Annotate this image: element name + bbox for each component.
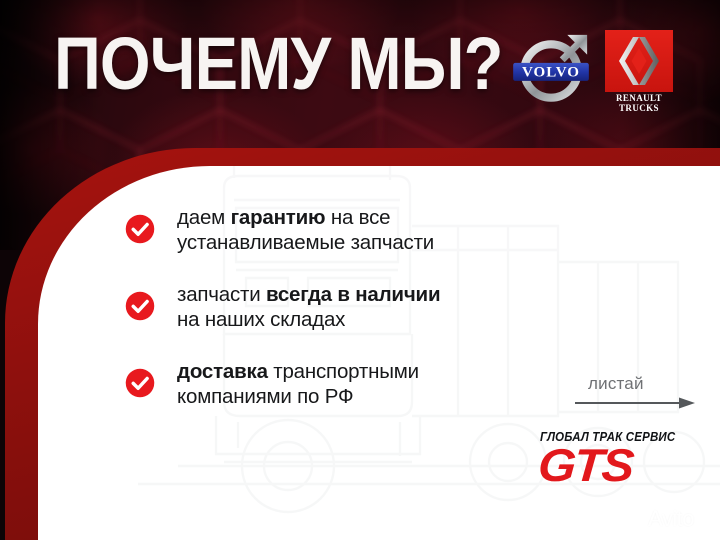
bullet-2-line2: на наших складах — [177, 308, 345, 331]
benefits-list: даем гарантию на все устанавливаемые зап… — [125, 205, 555, 436]
bullet-1-line2: устанавливаемые запчасти — [177, 231, 434, 254]
renault-wordmark: RENAULT TRUCKS — [605, 94, 673, 113]
check-circle-icon — [125, 291, 155, 321]
list-item: запчасти всегда в наличии на наших склад… — [125, 282, 555, 332]
list-item: доставка транспортными компаниями по РФ — [125, 359, 555, 409]
avito-label: Avito — [648, 506, 694, 532]
list-item-text: даем гарантию на все устанавливаемые зап… — [177, 205, 434, 255]
bullet-1-plain: даем — [177, 206, 231, 229]
company-wordmark: GTS — [537, 442, 699, 488]
list-item-text: доставка транспортными компаниями по РФ — [177, 359, 419, 409]
bullet-1-bold: гарантию — [231, 206, 326, 229]
company-logo: ГЛОБАЛ ТРАК СЕРВИС GTS — [540, 430, 690, 492]
promo-banner: ПОЧЕМУ МЫ? VOLVO — [0, 0, 720, 540]
page-title: ПОЧЕМУ МЫ? — [54, 24, 502, 104]
bullet-3-tail: транспортными — [268, 360, 419, 383]
list-item: даем гарантию на все устанавливаемые зап… — [125, 205, 555, 255]
volvo-wordmark: VOLVO — [522, 65, 580, 81]
renault-diamond-icon — [605, 30, 673, 92]
check-circle-icon — [125, 214, 155, 244]
renault-trucks-logo: RENAULT TRUCKS — [605, 30, 673, 114]
swipe-hint-label: листай — [588, 374, 644, 394]
check-circle-icon — [125, 368, 155, 398]
bullet-1-tail: на все — [325, 206, 390, 229]
avito-watermark: Avito — [624, 506, 694, 532]
volvo-logo-icon: VOLVO — [508, 28, 594, 114]
list-item-text: запчасти всегда в наличии на наших склад… — [177, 282, 440, 332]
renault-diamond-box — [605, 30, 673, 92]
bullet-2-bold: всегда в наличии — [266, 283, 440, 306]
avito-dots-icon — [624, 509, 644, 529]
arrow-right-icon — [575, 396, 697, 410]
bullet-3-line2: компаниями по РФ — [177, 385, 353, 408]
bullet-3-bold: доставка — [177, 360, 268, 383]
bullet-2-plain: запчасти — [177, 283, 266, 306]
